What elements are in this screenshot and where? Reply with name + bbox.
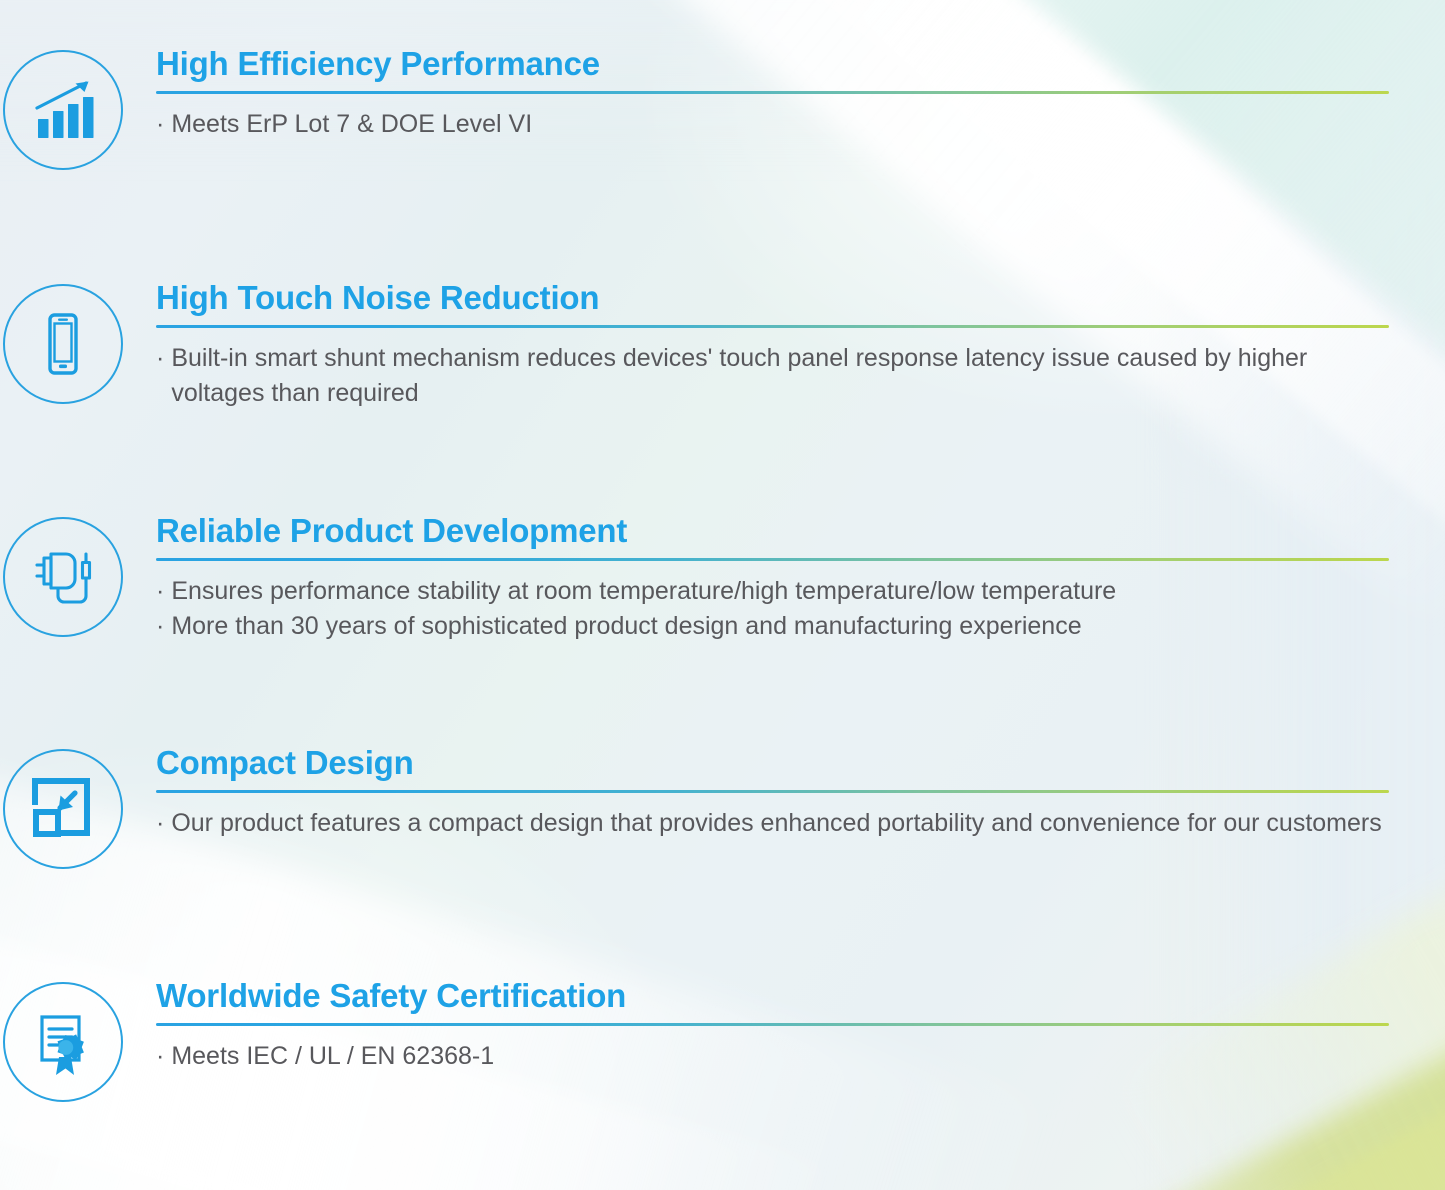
bullet-item: · Meets IEC / UL / EN 62368-1 <box>156 1039 1389 1074</box>
bullet-marker: · <box>156 609 164 644</box>
feature-item-high-efficiency-performance: High Efficiency Performance · Meets ErP … <box>0 46 1445 170</box>
bullet-marker: · <box>156 806 164 841</box>
compact-resize-icon <box>3 749 123 869</box>
feature-body: Compact Design · Our product features a … <box>126 745 1445 841</box>
feature-list: High Efficiency Performance · Meets ErP … <box>0 0 1445 1190</box>
bullet-text: Meets ErP Lot 7 & DOE Level VI <box>171 107 1389 142</box>
feature-divider <box>156 325 1389 328</box>
smartphone-icon <box>3 284 123 404</box>
feature-divider <box>156 91 1389 94</box>
feature-title: High Touch Noise Reduction <box>156 280 1389 317</box>
bullet-text: More than 30 years of sophisticated prod… <box>171 609 1389 644</box>
feature-divider <box>156 558 1389 561</box>
feature-divider <box>156 1023 1389 1026</box>
feature-icon-wrap <box>0 978 126 1102</box>
bullet-marker: · <box>156 1039 164 1074</box>
bullet-text: Ensures performance stability at room te… <box>171 574 1389 609</box>
bullet-item: · Our product features a compact design … <box>156 806 1389 841</box>
feature-item-compact-design: Compact Design · Our product features a … <box>0 745 1445 869</box>
feature-bullets: · Meets ErP Lot 7 & DOE Level VI <box>156 107 1389 142</box>
feature-icon-wrap <box>0 745 126 869</box>
feature-divider <box>156 790 1389 793</box>
feature-body: High Touch Noise Reduction · Built-in sm… <box>126 280 1445 411</box>
feature-body: Worldwide Safety Certification · Meets I… <box>126 978 1445 1074</box>
bullet-text: Our product features a compact design th… <box>171 806 1389 841</box>
feature-bullets: · Meets IEC / UL / EN 62368-1 <box>156 1039 1389 1074</box>
bar-chart-growth-icon <box>3 50 123 170</box>
bullet-item: · Ensures performance stability at room … <box>156 574 1389 609</box>
feature-body: Reliable Product Development · Ensures p… <box>126 513 1445 644</box>
feature-item-reliable-product-development: Reliable Product Development · Ensures p… <box>0 513 1445 644</box>
feature-icon-wrap <box>0 513 126 637</box>
feature-title: Compact Design <box>156 745 1389 782</box>
bullet-item: · Meets ErP Lot 7 & DOE Level VI <box>156 107 1389 142</box>
bullet-marker: · <box>156 341 164 376</box>
power-adapter-icon <box>3 517 123 637</box>
bullet-marker: · <box>156 107 164 142</box>
feature-title: Reliable Product Development <box>156 513 1389 550</box>
feature-title: High Efficiency Performance <box>156 46 1389 83</box>
feature-icon-wrap <box>0 46 126 170</box>
feature-bullets: · Built-in smart shunt mechanism reduces… <box>156 341 1389 411</box>
bullet-text: Meets IEC / UL / EN 62368-1 <box>171 1039 1389 1074</box>
certificate-seal-icon <box>3 982 123 1102</box>
bullet-marker: · <box>156 574 164 609</box>
bullet-text: Built-in smart shunt mechanism reduces d… <box>171 341 1389 411</box>
feature-title: Worldwide Safety Certification <box>156 978 1389 1015</box>
feature-icon-wrap <box>0 280 126 404</box>
feature-bullets: · Ensures performance stability at room … <box>156 574 1389 644</box>
feature-item-worldwide-safety-certification: Worldwide Safety Certification · Meets I… <box>0 978 1445 1102</box>
feature-bullets: · Our product features a compact design … <box>156 806 1389 841</box>
feature-body: High Efficiency Performance · Meets ErP … <box>126 46 1445 142</box>
feature-item-high-touch-noise-reduction: High Touch Noise Reduction · Built-in sm… <box>0 280 1445 411</box>
bullet-item: · Built-in smart shunt mechanism reduces… <box>156 341 1389 411</box>
bullet-item: · More than 30 years of sophisticated pr… <box>156 609 1389 644</box>
